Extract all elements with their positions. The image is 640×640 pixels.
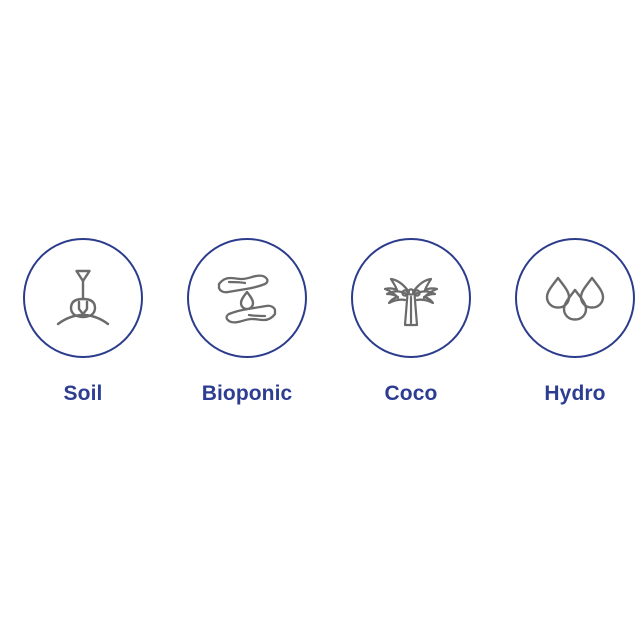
media-icon-circle-coco[interactable]: [351, 238, 471, 358]
media-option-coco[interactable]: Coco: [329, 238, 493, 404]
media-option-hydro[interactable]: Hydro: [493, 238, 640, 404]
media-option-label: Hydro: [544, 383, 605, 404]
media-option-soil[interactable]: Soil: [1, 238, 165, 404]
hands-with-water-drop-icon: [210, 261, 284, 335]
media-option-label: Soil: [64, 383, 103, 404]
media-option-label: Coco: [385, 383, 438, 404]
three-water-drops-icon: [538, 261, 612, 335]
media-icon-circle-bioponic[interactable]: [187, 238, 307, 358]
shovel-in-ground-icon: [46, 261, 120, 335]
media-icon-circle-hydro[interactable]: [515, 238, 635, 358]
media-options-row: Soil Bioponic: [0, 238, 640, 428]
media-option-label: Bioponic: [202, 383, 293, 404]
media-icon-circle-soil[interactable]: [23, 238, 143, 358]
growing-media-selector: Soil Bioponic: [0, 0, 640, 640]
palm-tree-icon: [374, 261, 448, 335]
media-option-bioponic[interactable]: Bioponic: [165, 238, 329, 404]
